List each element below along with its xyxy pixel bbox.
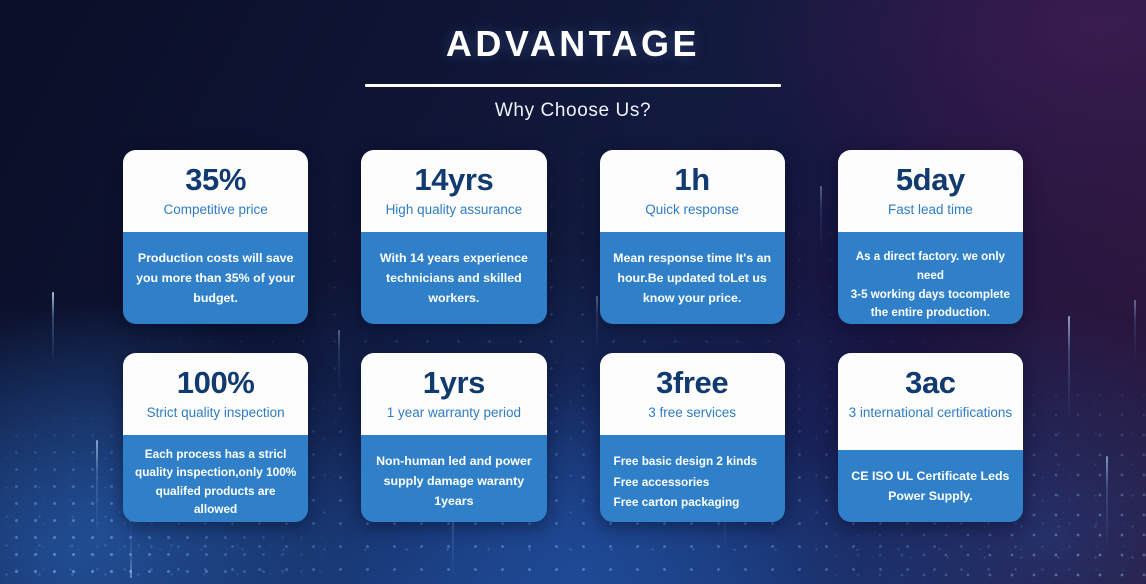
card-body-line: technicians and skilled (374, 268, 533, 288)
card-header: 1h Quick response (600, 150, 785, 232)
card-caption: 3 international certifications (846, 404, 1015, 422)
card-caption-line: Fast lead (888, 202, 944, 217)
page-subtitle: Why Choose Us? (0, 101, 1146, 120)
card-caption-line: Quick (645, 202, 680, 217)
advantage-infographic: ADVANTAGE Why Choose Us? 35% Competitive… (0, 0, 1146, 584)
advantage-card-warranty-period[interactable]: 1yrs 1 year warranty period Non-human le… (361, 353, 546, 522)
card-body-line: to ship. (133, 518, 298, 522)
card-body-line: you more than 35% of your (136, 268, 295, 288)
card-body-line: Free carton packaging (614, 492, 772, 513)
card-header: 5day Fast lead time (838, 150, 1023, 232)
card-body-line: hour.Be updated toLet us (613, 268, 772, 288)
card-body-line: 3-5 working days tocomplete (846, 286, 1015, 305)
card-caption-line: Competitive (163, 202, 234, 217)
card-caption-line: services (687, 405, 737, 420)
card-body-line: know your price. (613, 288, 772, 308)
card-caption: High quality assurance (369, 201, 538, 219)
card-header: 3free 3 free services (600, 353, 785, 435)
card-body-line: supply damage waranty (374, 471, 533, 491)
card-number: 14yrs (369, 164, 538, 197)
card-body-line: Power Supply. (851, 486, 1010, 506)
card-caption: 1 year warranty period (369, 404, 538, 422)
card-caption-line: 3 international (849, 405, 934, 420)
card-number: 1yrs (369, 367, 538, 400)
advantage-card-strict-quality-inspection[interactable]: 100% Strict quality inspection Each proc… (123, 353, 308, 522)
card-number: 5day (846, 164, 1015, 197)
card-caption-line: Strict quality (147, 405, 221, 420)
card-body-line: Non-human led and power (374, 451, 533, 471)
card-caption: 3 free services (608, 404, 777, 422)
card-body: As a direct factory. we only need 3-5 wo… (838, 232, 1023, 324)
card-number: 100% (131, 367, 300, 400)
card-caption-line: High quality (386, 202, 457, 217)
card-body: CE ISO UL Certificate Leds Power Supply. (838, 450, 1023, 522)
card-caption-line: certifications (937, 405, 1012, 420)
advantage-card-certifications[interactable]: 3ac 3 international certifications CE IS… (838, 353, 1023, 522)
advantage-card-high-quality-assurance[interactable]: 14yrs High quality assurance With 14 yea… (361, 150, 546, 324)
card-caption: Strict quality inspection (131, 404, 300, 422)
card-body-line: Mean response time It's an (613, 248, 772, 268)
card-body: Production costs will save you more than… (123, 232, 308, 324)
card-row-2: 100% Strict quality inspection Each proc… (123, 353, 1023, 522)
card-caption: Competitive price (131, 201, 300, 219)
card-caption-line: price (239, 202, 268, 217)
card-body: With 14 years experience technicians and… (361, 232, 546, 324)
card-body-line: With 14 years experience (374, 248, 533, 268)
card-number: 1h (608, 164, 777, 197)
header: ADVANTAGE Why Choose Us? (0, 26, 1146, 120)
card-body-line: workers. (374, 288, 533, 308)
card-body-line: Free accessories (614, 472, 772, 493)
card-body-line: the entire production. (846, 304, 1015, 323)
card-body: Non-human led and power supply damage wa… (361, 435, 546, 522)
card-body-line: Each process has a stricl (133, 445, 298, 463)
card-caption-line: 1 year (387, 405, 425, 420)
card-caption: Fast lead time (846, 201, 1015, 219)
card-number: 3free (608, 367, 777, 400)
card-header: 100% Strict quality inspection (123, 353, 308, 435)
card-body-line: Production costs will save (136, 248, 295, 268)
card-header: 1yrs 1 year warranty period (361, 353, 546, 435)
card-number: 35% (131, 164, 300, 197)
card-caption-line: inspection (224, 405, 285, 420)
card-caption-line: 3 free (648, 405, 683, 420)
card-caption-line: warranty period (428, 405, 521, 420)
advantage-card-fast-lead-time[interactable]: 5day Fast lead time As a direct factory.… (838, 150, 1023, 324)
card-body-line: budget. (136, 288, 295, 308)
card-body-line: As a direct factory. we only need (846, 248, 1015, 286)
card-header: 3ac 3 international certifications (838, 353, 1023, 450)
card-caption: Quick response (608, 201, 777, 219)
advantage-card-free-services[interactable]: 3free 3 free services Free basic design … (600, 353, 785, 522)
card-body-line: qualifed products are allowed (133, 482, 298, 519)
card-row-1: 35% Competitive price Production costs w… (123, 150, 1023, 324)
card-body-line: quality inspection,only 100% (133, 463, 298, 481)
title-divider (365, 84, 781, 87)
card-header: 35% Competitive price (123, 150, 308, 232)
card-caption-line: response (683, 202, 739, 217)
card-body: Free basic design 2 kinds Free accessori… (600, 435, 785, 522)
card-body-line: 1years (374, 491, 533, 511)
card-body-line: Free basic design 2 kinds (614, 451, 772, 472)
advantage-card-competitive-price[interactable]: 35% Competitive price Production costs w… (123, 150, 308, 324)
card-body-line: CE ISO UL Certificate Leds (851, 466, 1010, 486)
advantage-card-quick-response[interactable]: 1h Quick response Mean response time It'… (600, 150, 785, 324)
card-caption-line: time (947, 202, 973, 217)
page-title: ADVANTAGE (0, 26, 1146, 62)
card-number: 3ac (846, 367, 1015, 400)
advantage-card-grid: 35% Competitive price Production costs w… (123, 150, 1023, 522)
card-caption-line: assurance (460, 202, 522, 217)
card-body: Mean response time It's an hour.Be updat… (600, 232, 785, 324)
card-header: 14yrs High quality assurance (361, 150, 546, 232)
card-body: Each process has a stricl quality inspec… (123, 435, 308, 522)
